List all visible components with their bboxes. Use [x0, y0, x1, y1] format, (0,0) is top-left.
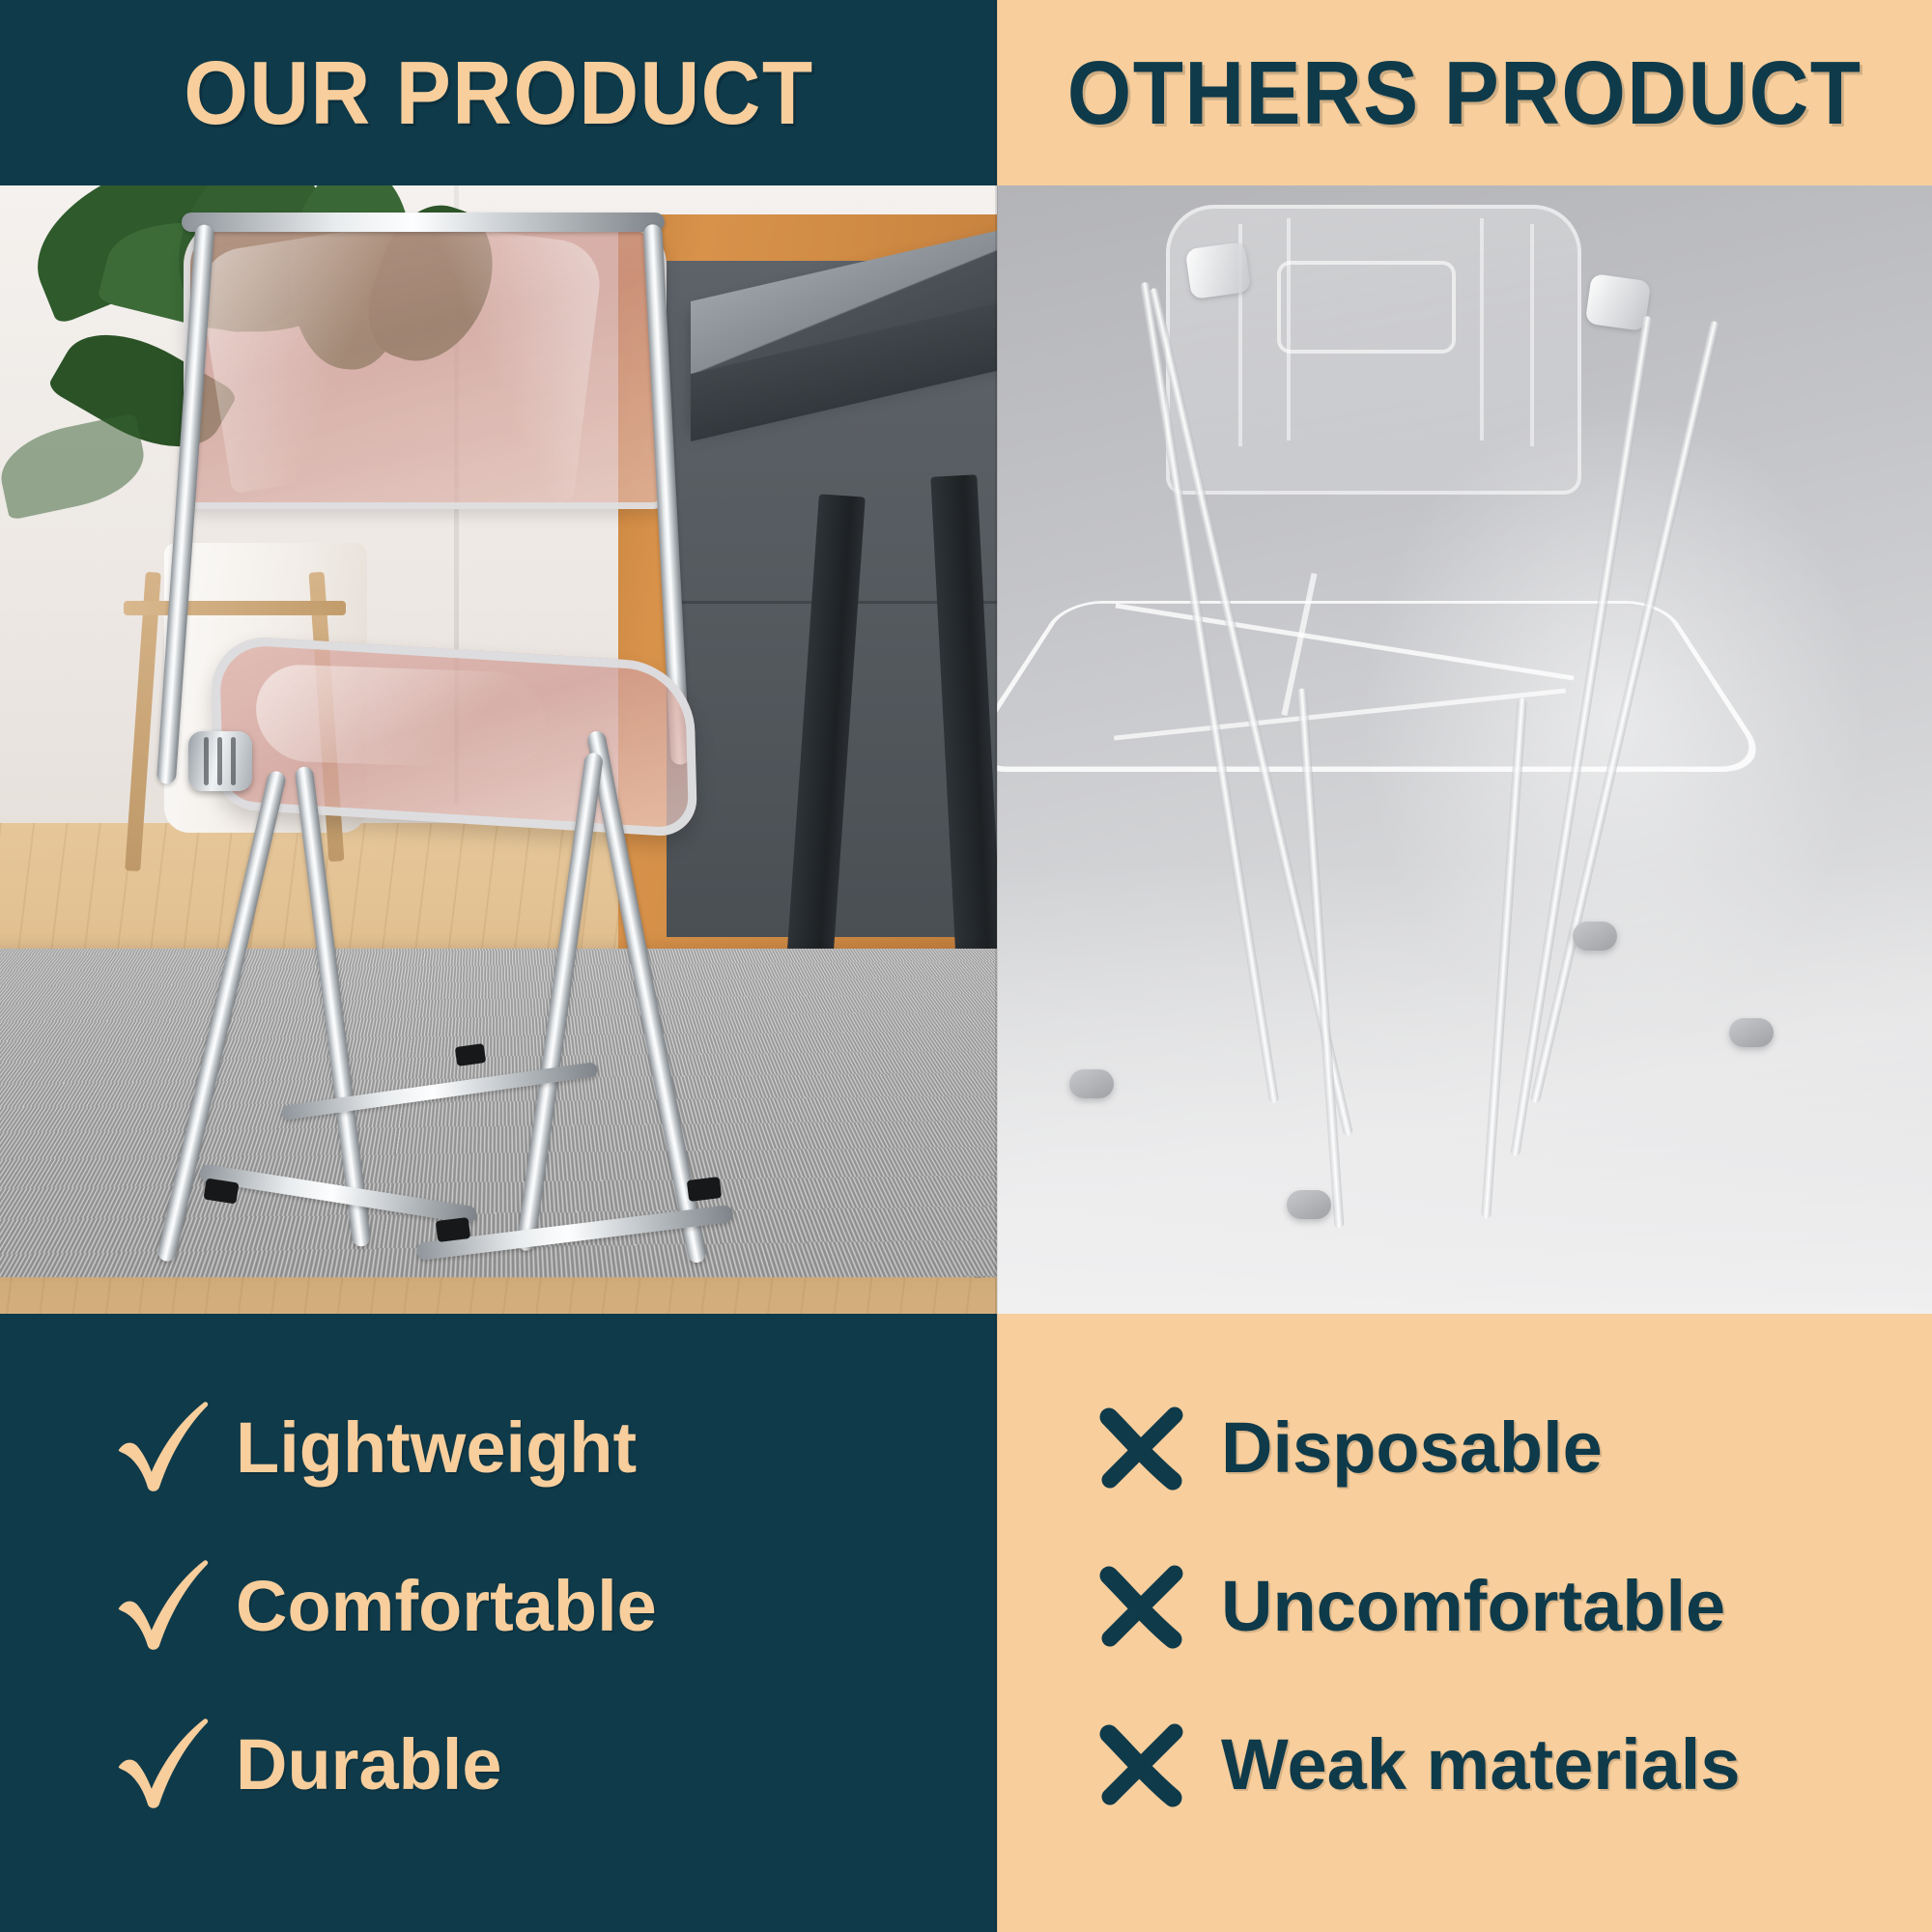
chair-leg-tube [295, 766, 372, 1248]
cross-icon [1094, 1390, 1221, 1506]
others-product-title: OTHERS PRODUCT [1067, 48, 1862, 138]
pivot-knuckle [1185, 241, 1252, 299]
cross-icon [1094, 1548, 1221, 1664]
chair-foot-cap [687, 1177, 722, 1202]
feature-label: Disposable [1221, 1412, 1603, 1484]
chair-foot-cap [203, 1178, 239, 1204]
chair-hinge [188, 731, 252, 791]
backdrop-floor [997, 863, 1932, 1314]
feature-row: Uncomfortable [1094, 1527, 1932, 1686]
rubber-foot [1573, 922, 1617, 951]
column-divider [995, 0, 998, 1932]
check-icon [108, 1707, 236, 1823]
feature-label: Comfortable [236, 1571, 657, 1642]
backrest-rib [1530, 224, 1534, 446]
feature-row: Disposable [1094, 1369, 1932, 1527]
our-product-photo [0, 185, 997, 1314]
our-product-header: OUR PRODUCT [0, 0, 997, 185]
our-product-column: OUR PRODUCT [0, 0, 997, 1932]
chair-foot-cap [455, 1043, 486, 1066]
feature-label: Lightweight [236, 1412, 637, 1484]
feature-row: Durable [108, 1686, 997, 1844]
check-icon [108, 1390, 236, 1506]
others-product-scene [997, 185, 1932, 1314]
cross-icon [1094, 1707, 1221, 1823]
others-product-column: OTHERS PRODUCT [997, 0, 1932, 1932]
comparison-board: OUR PRODUCT [0, 0, 1932, 1932]
others-product-feature-list: Disposable Uncomfortable [997, 1314, 1932, 1932]
backrest-handle [1277, 261, 1456, 354]
our-product-title: OUR PRODUCT [184, 48, 813, 138]
our-product-scene [0, 185, 997, 1314]
feature-row: Comfortable [108, 1527, 997, 1686]
rubber-foot [1729, 1018, 1774, 1047]
feature-row: Weak materials [1094, 1686, 1932, 1844]
chair-foot-rail [198, 1163, 477, 1224]
others-product-photo [997, 185, 1932, 1314]
chair-foot-cap [436, 1217, 470, 1242]
backrest-highlight [400, 224, 605, 504]
chair-frame-tube [182, 213, 665, 232]
feature-label: Durable [236, 1729, 502, 1801]
feature-label: Weak materials [1221, 1729, 1741, 1801]
feature-row: Lightweight [108, 1369, 997, 1527]
backrest-highlight [195, 225, 424, 494]
check-icon [108, 1548, 236, 1664]
acrylic-folding-chair [97, 185, 811, 1314]
wire-seat-frame [997, 601, 1776, 772]
feature-label: Uncomfortable [1221, 1571, 1725, 1642]
backrest-rib [1287, 218, 1291, 440]
rubber-foot [1287, 1190, 1331, 1219]
rubber-foot [1069, 1069, 1114, 1098]
seat-highlight [254, 664, 549, 771]
backrest-rib [1480, 218, 1484, 440]
our-product-feature-list: Lightweight Comfortable Durable [0, 1314, 997, 1932]
others-product-header: OTHERS PRODUCT [997, 0, 1932, 185]
